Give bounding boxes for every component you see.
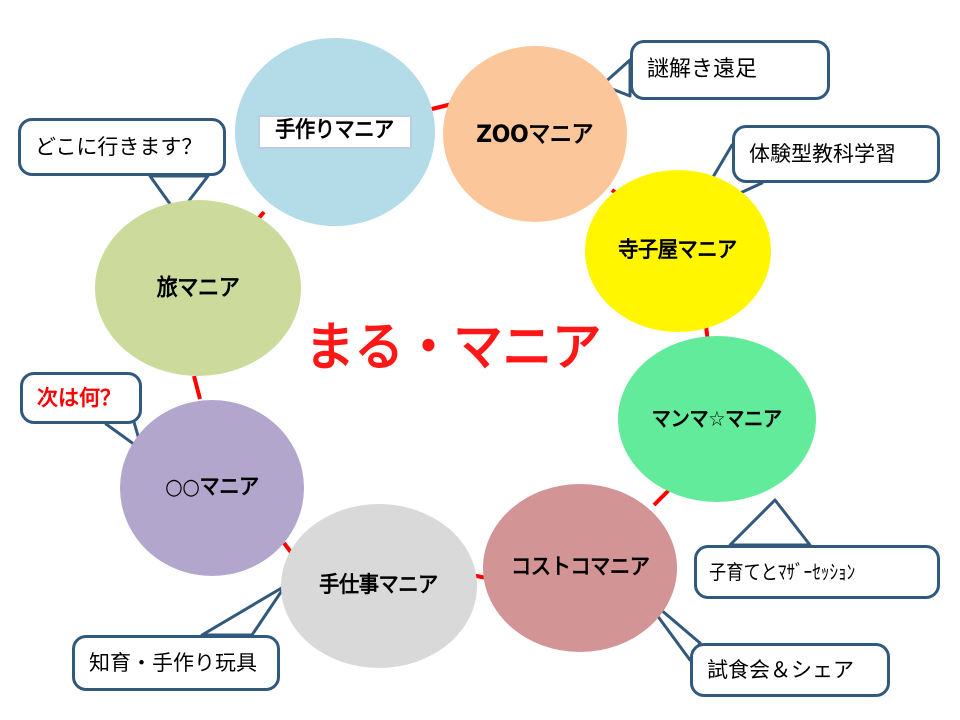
page-title: まる・マニア xyxy=(305,322,601,374)
node-terakoya-mania[interactable]: 寺子屋マニア xyxy=(585,170,771,332)
callout-text-chiiku-tezukuri-omocha: 知育・手作り玩具 xyxy=(75,653,271,674)
node-handwork-mania[interactable]: 手仕事マニア xyxy=(281,504,477,668)
callout-nazotoki-ensoku[interactable]: 謎解き遠足 xyxy=(630,40,830,100)
node-label-handwork-mania: 手仕事マニア xyxy=(320,575,439,597)
node-label-terakoya-mania: 寺子屋マニア xyxy=(619,240,738,262)
node-label-travel-mania: 旅マニア xyxy=(157,277,240,300)
callout-tail-kosodate-to-mother-session xyxy=(730,500,810,545)
node-label-handmade-mania: 手作りマニア xyxy=(258,115,411,149)
callout-text-taikengata-kyouka-gakushu: 体験型教科学習 xyxy=(735,144,910,165)
node-maru-maru-mania[interactable]: ○○マニア xyxy=(120,400,304,576)
callout-text-shishokukai-and-share: 試食会＆シェア xyxy=(693,660,868,681)
node-label-text-handmade-mania: 手作りマニア xyxy=(276,120,395,142)
node-label-mamma-mania: マンマ☆マニア xyxy=(652,409,782,430)
callout-text-doko-ni-ikimasu: どこに行きます？ xyxy=(21,137,216,158)
callout-text-nazotoki-ensoku: 謎解き遠足 xyxy=(633,59,771,81)
node-zoo-mania[interactable]: ZOOマニア xyxy=(443,46,627,222)
callout-doko-ni-ikimasu[interactable]: どこに行きます？ xyxy=(18,118,226,176)
node-costco-mania[interactable]: コストコマニア xyxy=(483,484,677,652)
callout-chiiku-tezukuri-omocha[interactable]: 知育・手作り玩具 xyxy=(72,635,280,691)
callout-text-tsugi-wa-nani: 次は何？ xyxy=(23,388,135,409)
node-handmade-mania[interactable]: 手作りマニア xyxy=(235,38,435,226)
node-label-zoo-mania: ZOOマニア xyxy=(476,122,593,146)
callout-text-kosodate-to-mother-session: 子育てとﾏｻﾞｰｾｯｼｮﾝ xyxy=(697,562,867,582)
spoke-marumaru-travel xyxy=(194,376,200,399)
node-mamma-mania[interactable]: マンマ☆マニア xyxy=(618,336,816,502)
callout-taikengata-kyouka-gakushu[interactable]: 体験型教科学習 xyxy=(732,125,940,183)
callout-tail-chiiku-tezukuri-omocha xyxy=(202,586,285,635)
node-label-maru-maru-mania: ○○マニア xyxy=(165,477,259,499)
callout-tsugi-wa-nani[interactable]: 次は何？ xyxy=(20,372,142,424)
callout-kosodate-to-mother-session[interactable]: 子育てとﾏｻﾞｰｾｯｼｮﾝ xyxy=(694,545,940,599)
diagram-canvas: 手作りマニアZOOマニア寺子屋マニアマンマ☆マニアコストコマニア手仕事マニア○○… xyxy=(0,0,960,720)
node-travel-mania[interactable]: 旅マニア xyxy=(95,200,301,376)
callout-shishokukai-and-share[interactable]: 試食会＆シェア xyxy=(690,643,890,697)
node-label-costco-mania: コストコマニア xyxy=(511,557,649,579)
